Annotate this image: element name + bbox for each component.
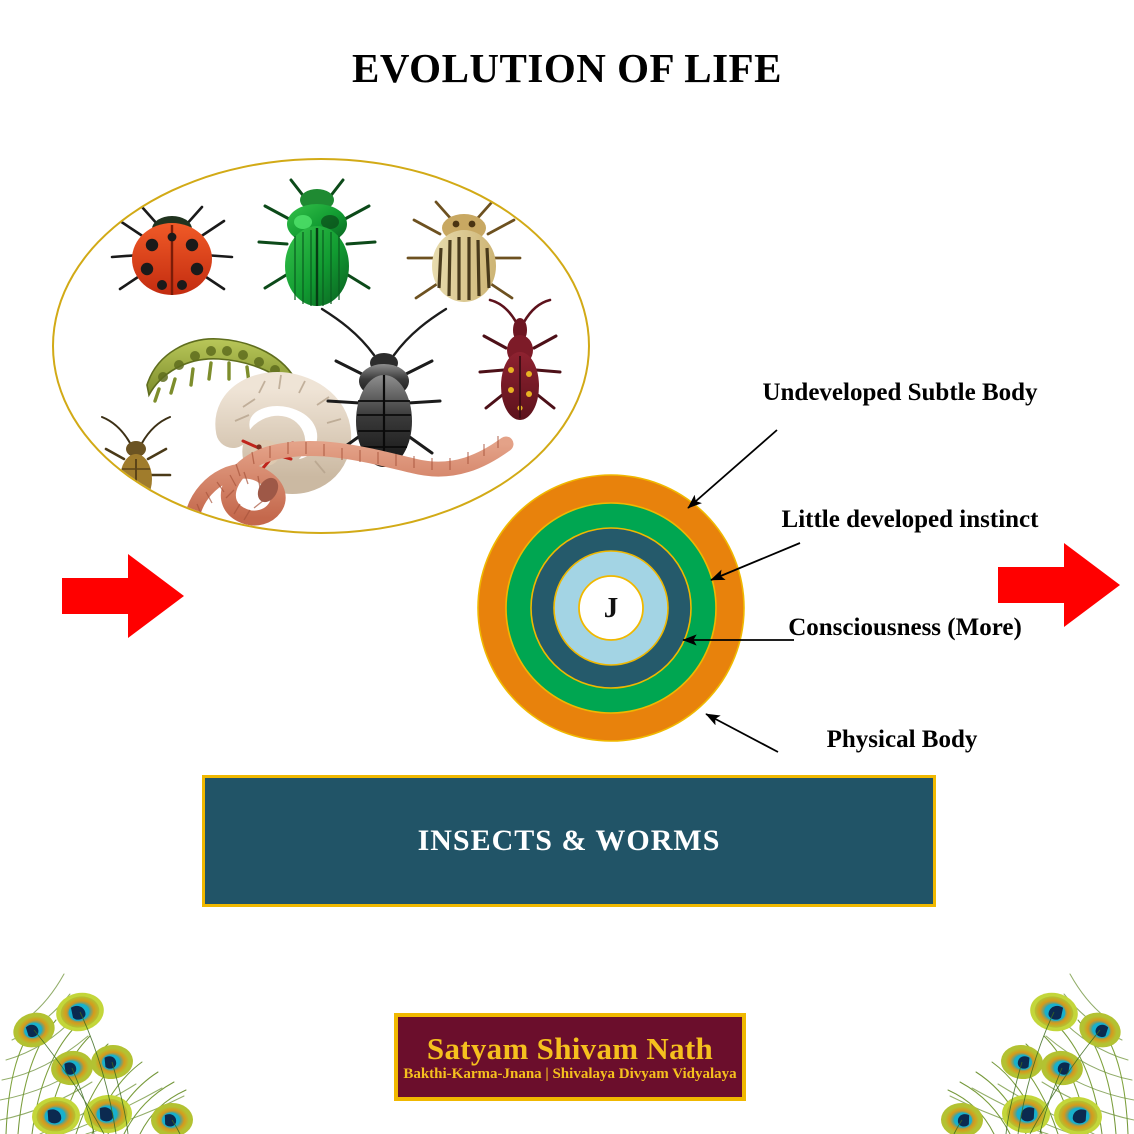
page-title: EVOLUTION OF LIFE <box>0 44 1134 92</box>
callout-physical-body: Physical Body <box>752 725 1052 754</box>
ladybug-icon <box>112 207 232 295</box>
peacock-feather-icon-left <box>0 934 210 1134</box>
earthworm-icon <box>194 436 506 520</box>
logo-badge: Satyam Shivam Nath Bakthi-Karma-Jnana | … <box>394 1013 746 1101</box>
logo-title: Satyam Shivam Nath <box>427 1033 713 1064</box>
colorado-potato-beetle-icon <box>408 202 520 302</box>
arrow-right-icon-left <box>62 551 184 641</box>
green-scarab-beetle-icon <box>259 180 375 306</box>
callout-undeveloped-subtle-body: Undeveloped Subtle Body <box>744 378 1056 407</box>
category-banner: INSECTS & WORMS <box>202 775 936 907</box>
category-banner-label: INSECTS & WORMS <box>418 824 721 858</box>
ring-core <box>579 576 643 640</box>
soul-ring-diagram: J <box>477 472 745 744</box>
peacock-feather-icon-right <box>924 934 1134 1134</box>
callout-consciousness-more: Consciousness (More) <box>760 613 1050 642</box>
weevil-icon <box>480 300 560 420</box>
slide-canvas: EVOLUTION OF LIFE <box>0 0 1134 1134</box>
callout-little-developed-instinct: Little developed instinct <box>760 505 1060 534</box>
small-brown-beetle-icon <box>102 417 170 505</box>
logo-subtitle: Bakthi-Karma-Jnana | Shivalaya Divyam Vi… <box>403 1067 736 1082</box>
